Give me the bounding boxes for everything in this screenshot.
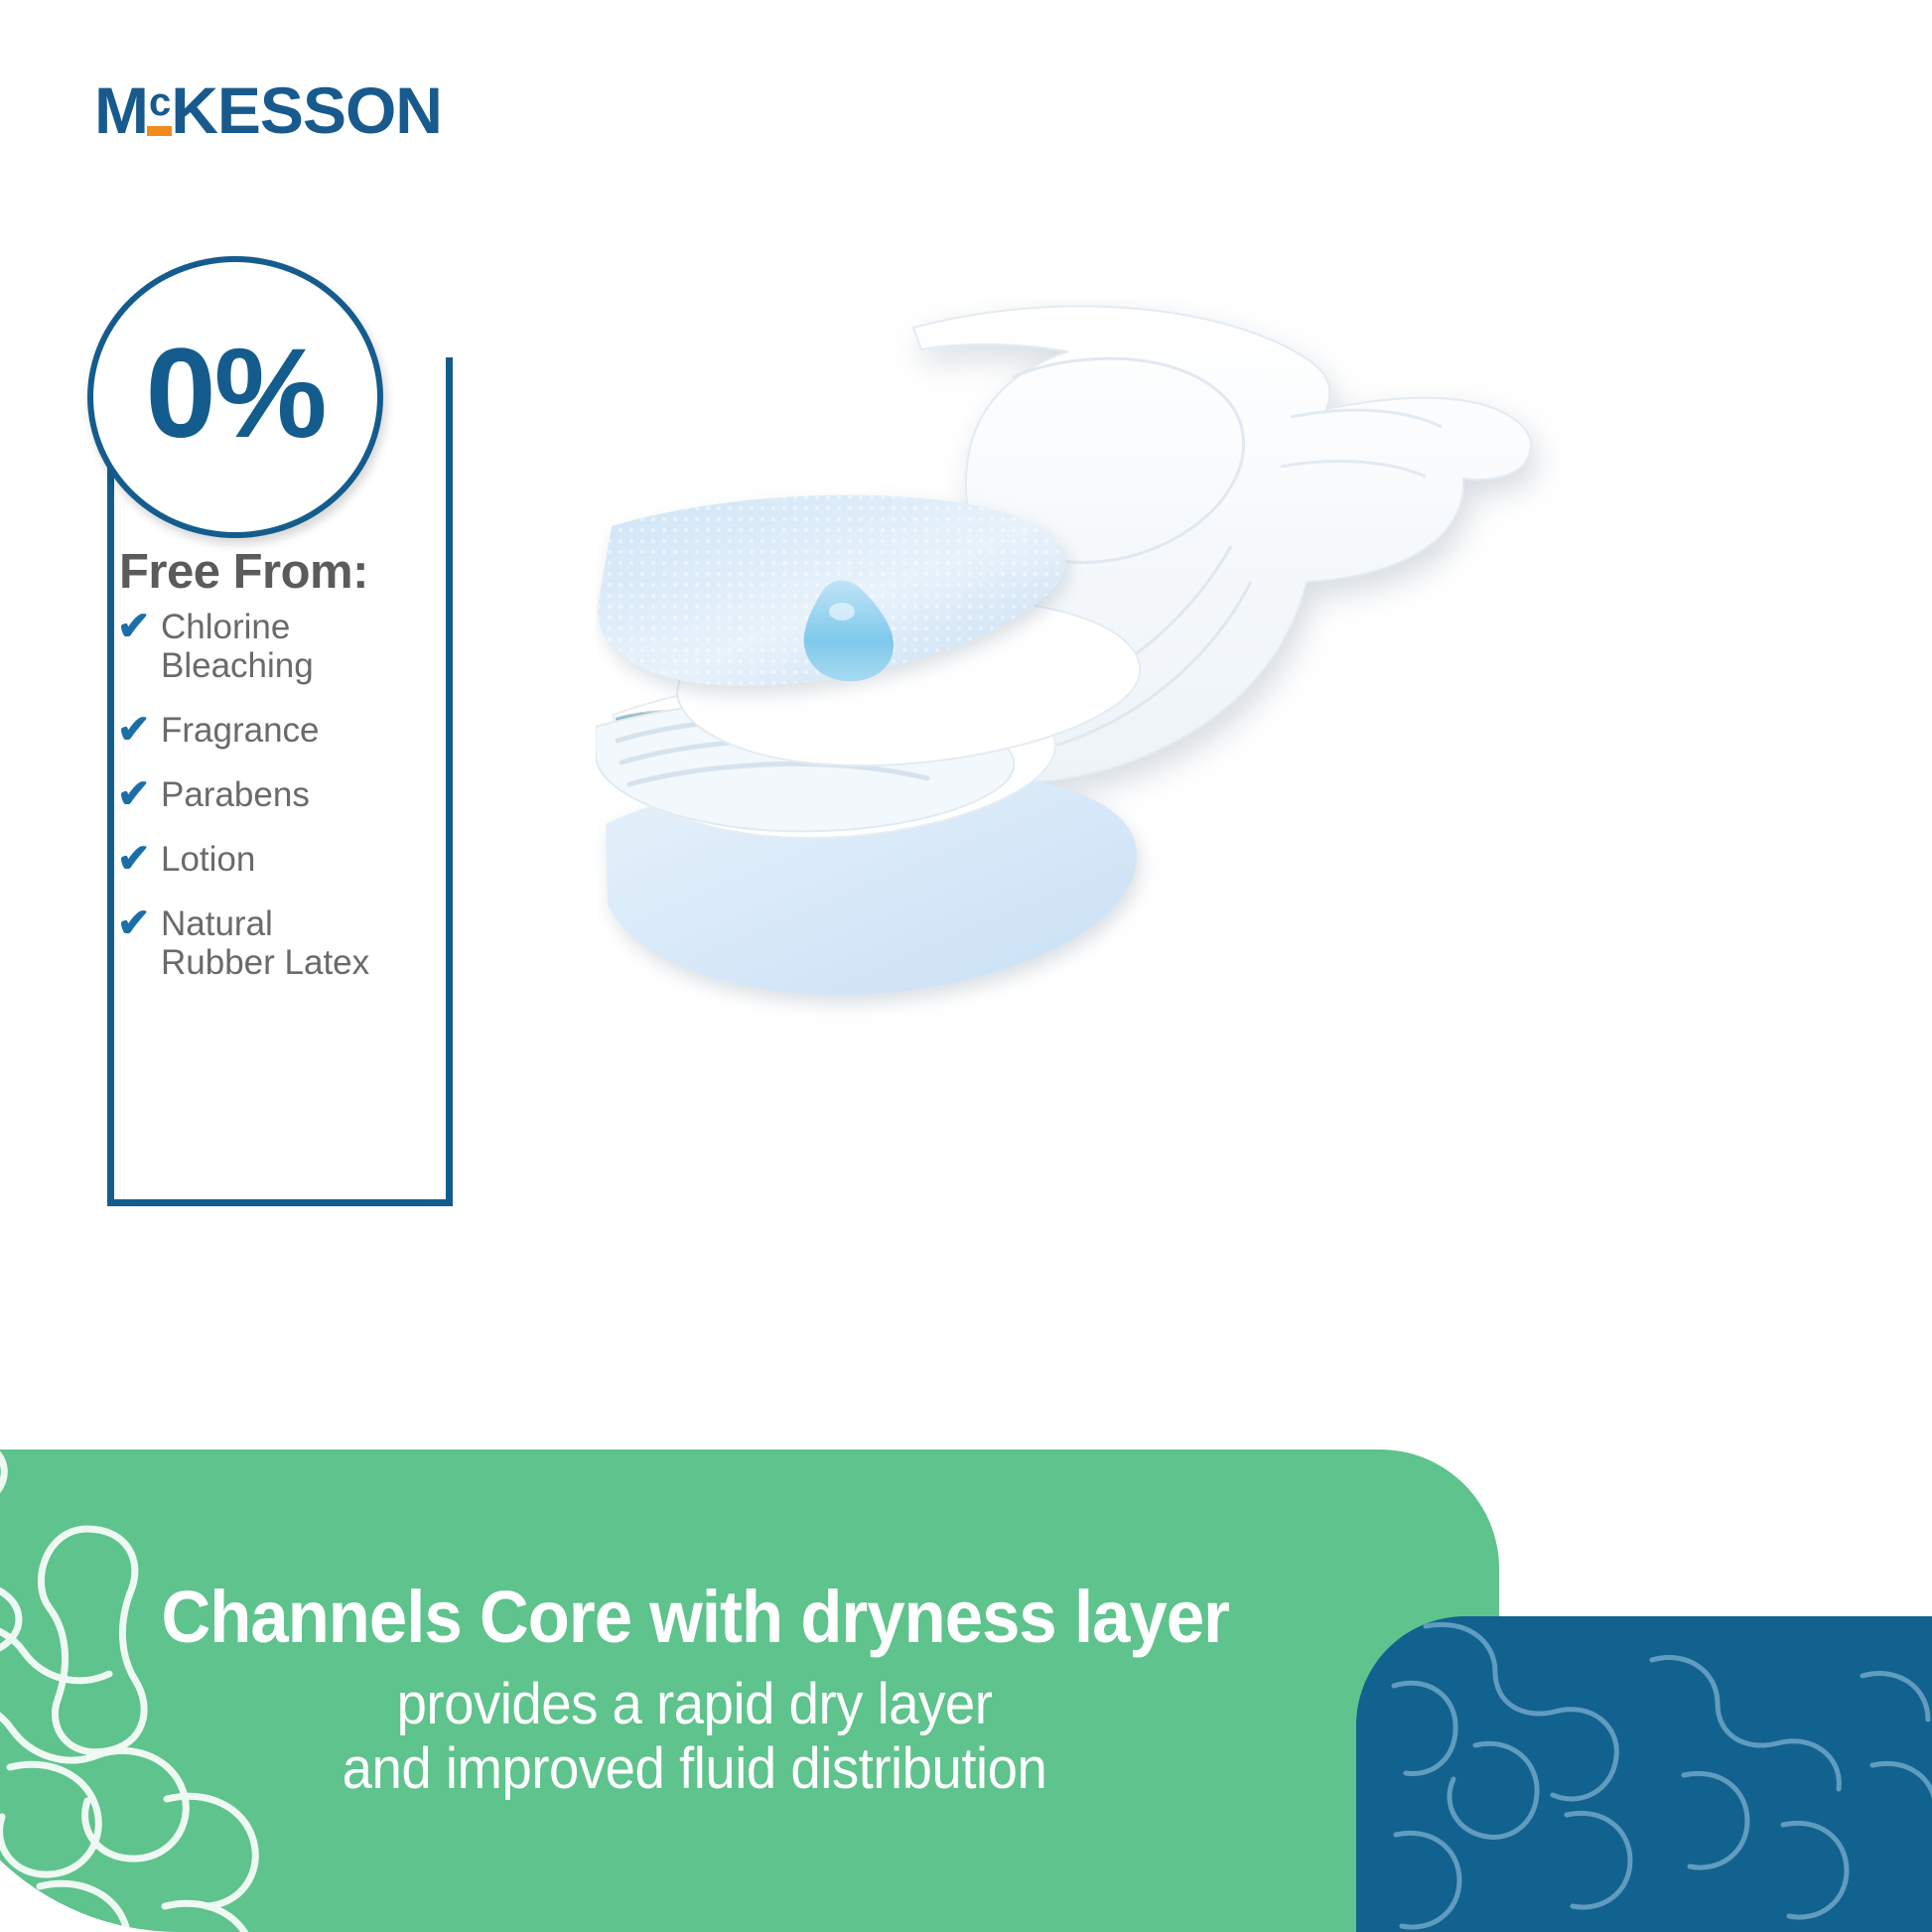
list-item-label: Lotion bbox=[161, 840, 255, 879]
banner-subtext: provides a rapid dry layer and improved … bbox=[343, 1673, 1047, 1802]
check-icon: ✔ bbox=[117, 840, 161, 878]
logo-superscript-c: c bbox=[149, 82, 170, 122]
list-item-label: Natural Rubber Latex bbox=[161, 904, 369, 982]
list-item-label: Chlorine Bleaching bbox=[161, 608, 314, 685]
zero-percent-value: 0% bbox=[146, 331, 326, 458]
logo-text-part2: KESSON bbox=[171, 73, 442, 147]
capsule-pattern-blue bbox=[1356, 1616, 1932, 1932]
zero-percent-badge: 0% bbox=[87, 256, 383, 538]
check-icon: ✔ bbox=[117, 711, 161, 749]
product-layers-illustration bbox=[596, 298, 1886, 1122]
free-from-list: ✔ Chlorine Bleaching ✔ Fragrance ✔ Parab… bbox=[117, 608, 435, 1008]
list-item: ✔ Chlorine Bleaching bbox=[117, 608, 435, 685]
banner-text-block: Channels Core with dryness layer provide… bbox=[0, 1449, 1390, 1932]
list-item: ✔ Natural Rubber Latex bbox=[117, 904, 435, 982]
blue-panel bbox=[1356, 1616, 1932, 1932]
list-item: ✔ Parabens bbox=[117, 775, 435, 814]
check-icon: ✔ bbox=[117, 904, 161, 942]
logo-text-part1: M bbox=[94, 73, 148, 147]
list-item: ✔ Lotion bbox=[117, 840, 435, 879]
bottom-banner: Channels Core with dryness layer provide… bbox=[0, 1449, 1932, 1932]
check-icon: ✔ bbox=[117, 608, 161, 645]
banner-headline: Channels Core with dryness layer bbox=[161, 1580, 1229, 1654]
check-icon: ✔ bbox=[117, 775, 161, 813]
mckesson-logo: McKESSON bbox=[94, 77, 442, 143]
list-item-label: Parabens bbox=[161, 775, 310, 814]
list-item-label: Fragrance bbox=[161, 711, 320, 750]
free-from-title: Free From: bbox=[119, 544, 368, 600]
list-item: ✔ Fragrance bbox=[117, 711, 435, 750]
